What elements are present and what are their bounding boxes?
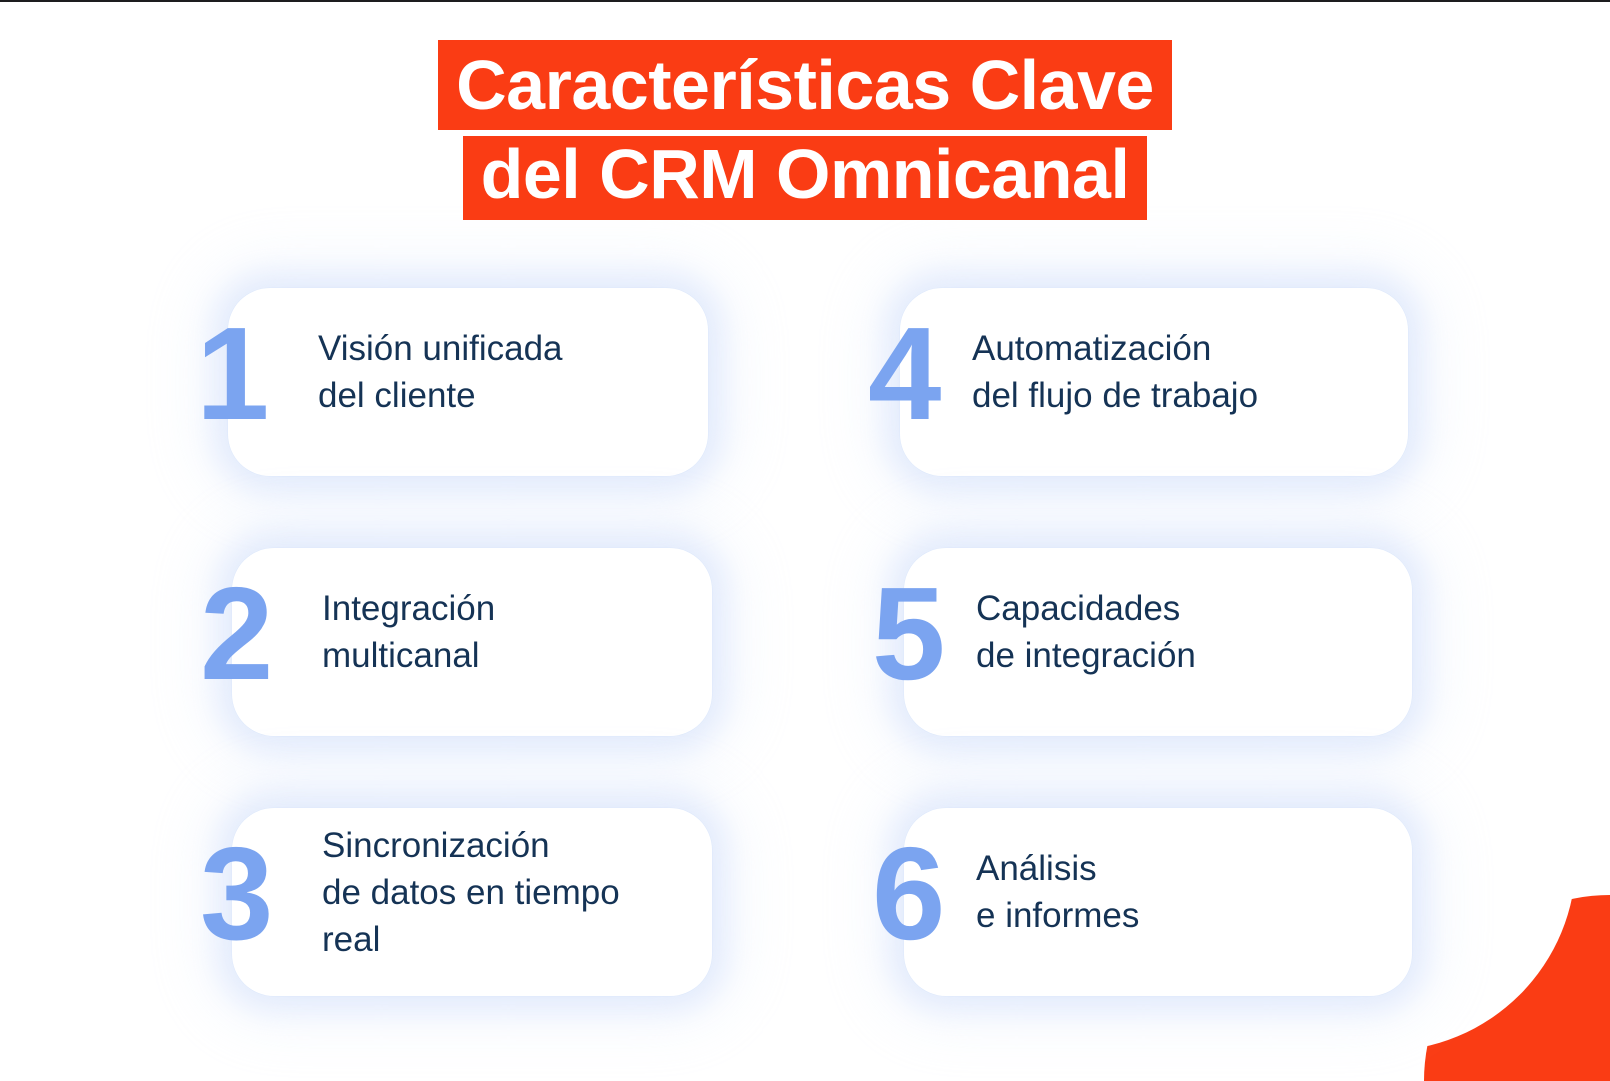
card-label-line: Visión unificada — [318, 325, 694, 372]
card-label-line: del flujo de trabajo — [972, 372, 1392, 419]
feature-card-1[interactable]: 1 Visión unificada del cliente — [196, 268, 706, 478]
card-number-6: 6 — [872, 838, 976, 958]
card-label-3: Sincronización de datos en tiempo real — [322, 788, 698, 996]
card-number-5: 5 — [872, 578, 976, 698]
card-number-3: 3 — [200, 838, 304, 958]
feature-card-6[interactable]: 6 Análisis e informes — [872, 788, 1382, 998]
card-label-line: multicanal — [322, 632, 698, 679]
page-title-line-2-text: del CRM Omnicanal — [463, 136, 1148, 220]
card-label-line: de datos en tiempo — [322, 869, 698, 916]
page-title-line-1: Características Clave — [0, 40, 1610, 130]
top-edge-hairline — [0, 0, 1610, 2]
card-label-line: real — [322, 916, 698, 963]
card-label-line: Integración — [322, 585, 698, 632]
card-label-line: Sincronización — [322, 822, 698, 869]
page-title-line-2: del CRM Omnicanal — [0, 136, 1610, 220]
card-number-2: 2 — [200, 578, 304, 698]
feature-card-grid: 1 Visión unificada del cliente 2 Integra… — [0, 256, 1610, 1016]
card-label-1: Visión unificada del cliente — [318, 268, 694, 476]
card-number-4: 4 — [868, 318, 972, 438]
card-label-line: Automatización — [972, 325, 1392, 372]
feature-card-4[interactable]: 4 Automatización del flujo de trabajo — [868, 268, 1378, 478]
card-label-5: Capacidades de integración — [976, 528, 1396, 736]
feature-card-5[interactable]: 5 Capacidades de integración — [872, 528, 1382, 738]
card-label-2: Integración multicanal — [322, 528, 698, 736]
card-label-line: de integración — [976, 632, 1396, 679]
card-label-line: Análisis — [976, 845, 1396, 892]
feature-card-2[interactable]: 2 Integración multicanal — [200, 528, 710, 738]
page-title: Características Clave del CRM Omnicanal — [0, 40, 1610, 220]
card-label-4: Automatización del flujo de trabajo — [972, 268, 1392, 476]
card-label-line: del cliente — [318, 372, 694, 419]
feature-card-3[interactable]: 3 Sincronización de datos en tiempo real — [200, 788, 710, 998]
card-label-6: Análisis e informes — [976, 788, 1396, 996]
card-label-line: Capacidades — [976, 585, 1396, 632]
card-number-1: 1 — [196, 318, 300, 438]
card-label-line: e informes — [976, 892, 1396, 939]
page-title-line-1-text: Características Clave — [438, 40, 1172, 130]
